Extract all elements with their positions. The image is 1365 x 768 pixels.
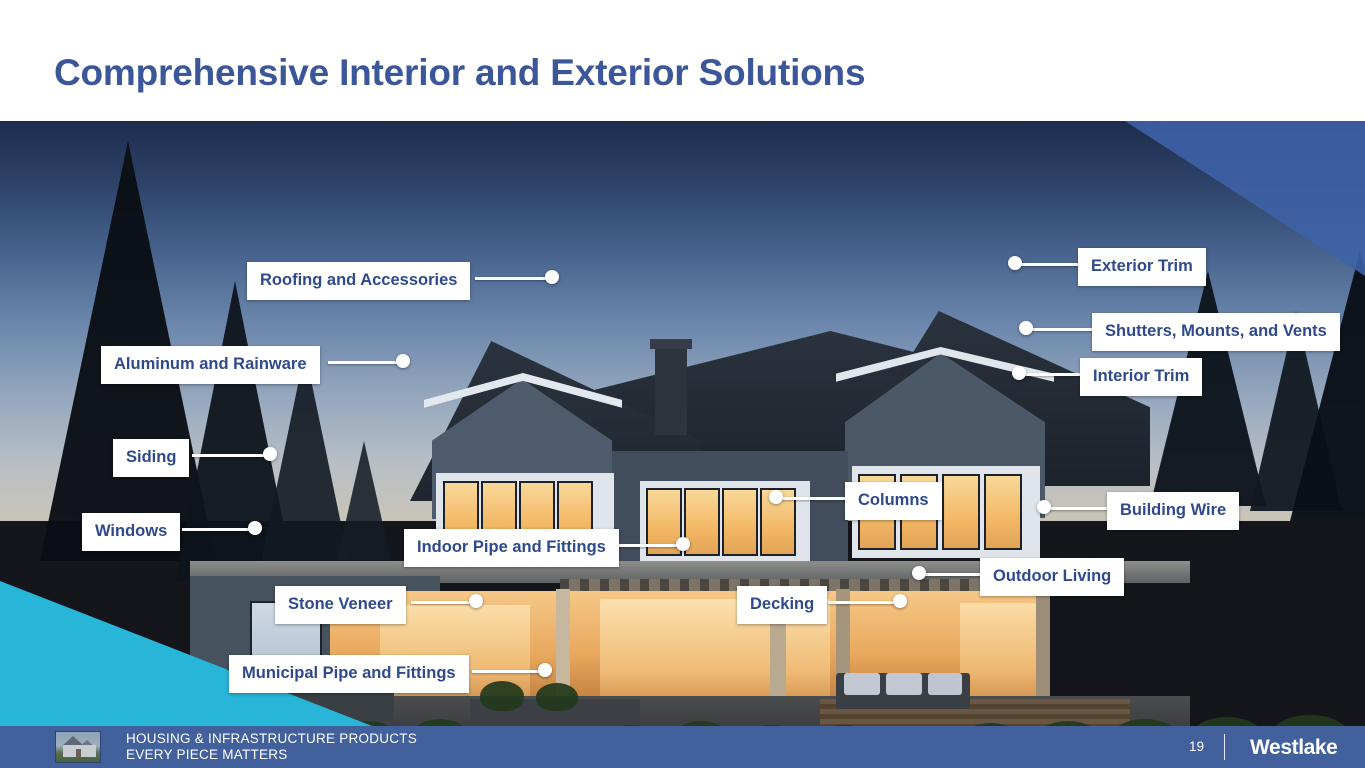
callout-leader-line <box>828 601 898 604</box>
callout-leader-line <box>1020 373 1082 376</box>
westlake-logo: Westlake <box>1250 736 1337 760</box>
callout-leader-line <box>411 601 473 604</box>
callout-leader-line <box>475 277 547 280</box>
callout-anchor-dot <box>469 594 483 608</box>
footer-tagline: HOUSING & INFRASTRUCTURE PRODUCTS EVERY … <box>126 731 417 763</box>
callout-anchor-dot <box>893 594 907 608</box>
callout-anchor-dot <box>1008 256 1022 270</box>
window <box>722 488 758 556</box>
shrub <box>1190 717 1264 726</box>
callout-leader-line <box>921 573 982 576</box>
window <box>942 474 980 550</box>
callout-label[interactable]: Stone Veneer <box>275 586 406 624</box>
callout-label[interactable]: Shutters, Mounts, and Vents <box>1092 313 1340 351</box>
callout-leader-line <box>192 454 266 457</box>
callout-label[interactable]: Exterior Trim <box>1078 248 1206 286</box>
sofa-cushion <box>844 673 880 695</box>
porch-column <box>1036 589 1050 707</box>
callout-anchor-dot <box>263 447 277 461</box>
callout-anchor-dot <box>676 537 690 551</box>
callout-label[interactable]: Windows <box>82 513 180 551</box>
callout-label[interactable]: Municipal Pipe and Fittings <box>229 655 469 693</box>
callout-anchor-dot <box>248 521 262 535</box>
callout-leader-line <box>1028 328 1094 331</box>
callout-anchor-dot <box>396 354 410 368</box>
callout-label[interactable]: Decking <box>737 586 827 624</box>
callout-leader-line <box>328 361 398 364</box>
footer-divider <box>1224 734 1225 760</box>
page-title: Comprehensive Interior and Exterior Solu… <box>54 52 865 94</box>
callout-anchor-dot <box>1019 321 1033 335</box>
hero-photo <box>0 121 1365 726</box>
callout-anchor-dot <box>545 270 559 284</box>
callout-label[interactable]: Siding <box>113 439 189 477</box>
callout-leader-line <box>1046 507 1109 510</box>
callout-leader-line <box>182 528 254 531</box>
callout-label[interactable]: Aluminum and Rainware <box>101 346 320 384</box>
callout-anchor-dot <box>769 490 783 504</box>
callout-anchor-dot <box>1037 500 1051 514</box>
chimney-cap <box>650 339 692 349</box>
callout-label[interactable]: Indoor Pipe and Fittings <box>404 529 619 567</box>
footer-line-1: HOUSING & INFRASTRUCTURE PRODUCTS <box>126 731 417 747</box>
callout-label[interactable]: Columns <box>845 482 942 520</box>
sofa-cushion <box>886 673 922 695</box>
page-number: 19 <box>1189 739 1204 754</box>
footer-bar: HOUSING & INFRASTRUCTURE PRODUCTS EVERY … <box>0 726 1365 768</box>
callout-label[interactable]: Outdoor Living <box>980 558 1124 596</box>
chimney <box>655 343 687 435</box>
callout-leader-line <box>778 497 847 500</box>
shrub <box>480 681 524 711</box>
callout-label[interactable]: Building Wire <box>1107 492 1239 530</box>
thumbnail-door <box>76 749 81 757</box>
window <box>984 474 1022 550</box>
sofa-cushion <box>928 673 962 695</box>
westlake-logo-text: Westlake <box>1250 736 1337 759</box>
callout-leader-line <box>472 670 544 673</box>
callout-label[interactable]: Roofing and Accessories <box>247 262 470 300</box>
shrub <box>1270 715 1350 726</box>
title-area: Comprehensive Interior and Exterior Solu… <box>0 0 1365 121</box>
callout-anchor-dot <box>1012 366 1026 380</box>
callout-label[interactable]: Interior Trim <box>1080 358 1202 396</box>
house-thumbnail-icon <box>55 731 101 763</box>
shrub <box>536 683 578 711</box>
callout-anchor-dot <box>912 566 926 580</box>
callout-anchor-dot <box>538 663 552 677</box>
footer-line-2: EVERY PIECE MATTERS <box>126 747 417 763</box>
callout-leader-line <box>1016 263 1080 266</box>
slide-canvas: Comprehensive Interior and Exterior Solu… <box>0 0 1365 768</box>
